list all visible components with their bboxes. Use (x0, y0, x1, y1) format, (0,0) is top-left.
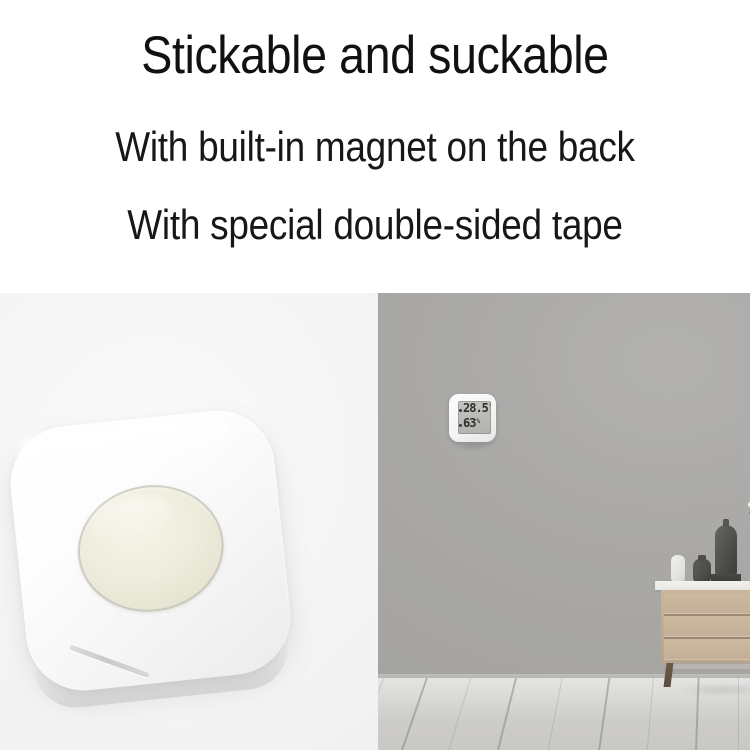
device-vent-slot (69, 645, 150, 678)
vase-dark-small (693, 559, 711, 582)
lcd-screen: 28.5 °C 63 % (458, 401, 491, 434)
temperature-indicator-dot (459, 409, 462, 412)
sideboard-body (661, 590, 750, 663)
vase-dark-tall (715, 525, 737, 577)
humidity-unit: % (476, 419, 480, 425)
device-edge-highlight (15, 415, 233, 477)
photo-strip: 28.5 °C 63 % (0, 293, 750, 750)
magnet-disc (68, 474, 232, 621)
humidity-value: 63 (463, 417, 475, 429)
room-scene-photo: 28.5 °C 63 % (378, 293, 750, 750)
thermometer-device-back (5, 405, 296, 696)
feature-line-magnet: With built-in magnet on the back (45, 124, 705, 170)
page-title: Stickable and suckable (45, 27, 705, 85)
humidity-row: 63 % (458, 417, 491, 429)
temperature-value: 28.5 (463, 402, 488, 414)
drawer-2 (664, 616, 750, 637)
sideboard-top (655, 581, 750, 590)
vase-white-small (671, 555, 685, 582)
flowering-branch (746, 493, 750, 553)
drawer-1 (664, 593, 750, 614)
product-feature-image: Stickable and suckable With built-in mag… (0, 0, 750, 750)
product-photo-back-view (0, 293, 378, 750)
device-body (5, 405, 296, 696)
wooden-sideboard (655, 581, 750, 691)
sideboard-leg-left (664, 663, 674, 687)
temperature-row: 28.5 °C (458, 402, 491, 414)
wall-device-shadow (452, 443, 496, 450)
drawer-3 (664, 639, 750, 660)
feature-line-tape: With special double-sided tape (45, 202, 705, 248)
sideboard-rail (669, 664, 750, 669)
humidity-indicator-dot (459, 424, 462, 427)
wall-mounted-thermometer: 28.5 °C 63 % (449, 394, 496, 442)
temperature-unit: °C (489, 404, 491, 410)
headline-block: Stickable and suckable With built-in mag… (0, 0, 750, 293)
